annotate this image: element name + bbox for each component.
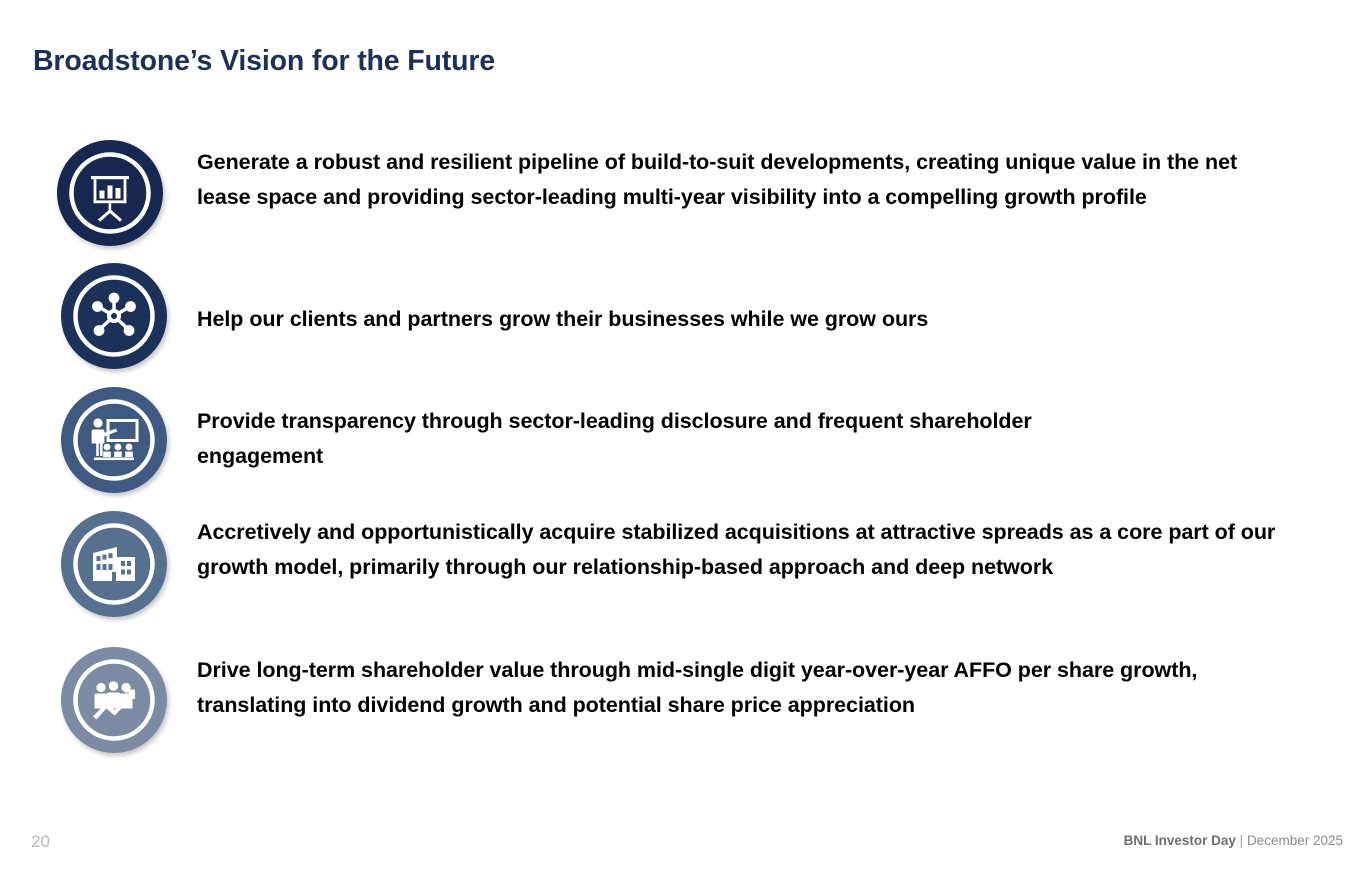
footer-note: BNL Investor Day | December 2025 (1124, 833, 1343, 848)
bullet-icon-circle-4 (61, 511, 167, 617)
footer-date: December 2025 (1247, 833, 1343, 848)
bullet-icon-circle-5 (61, 647, 167, 753)
bullet-icon-circle-3 (61, 387, 167, 493)
page-number: 20 (31, 832, 50, 852)
bullet-text: Help our clients and partners grow their… (197, 302, 1197, 337)
people-growth-arrow-icon (61, 647, 167, 753)
page-title: Broadstone’s Vision for the Future (33, 45, 495, 78)
presentation-chart-icon (57, 140, 163, 246)
footer-brand: BNL Investor Day (1124, 833, 1236, 848)
building-icon (61, 511, 167, 617)
bullet-icon-circle-1 (57, 140, 163, 246)
bullet-text: Provide transparency through sector-lead… (197, 404, 1157, 473)
network-hub-icon (61, 263, 167, 369)
presenter-audience-icon (61, 387, 167, 493)
presentation-slide: Broadstone’s Vision for the Future (0, 0, 1365, 870)
bullet-text: Drive long-term shareholder value throug… (197, 653, 1242, 722)
bullet-text: Generate a robust and resilient pipeline… (197, 145, 1277, 214)
bullet-text: Accretively and opportunistically acquir… (197, 515, 1277, 584)
bullet-icon-circle-2 (61, 263, 167, 369)
footer-separator: | (1240, 833, 1244, 848)
